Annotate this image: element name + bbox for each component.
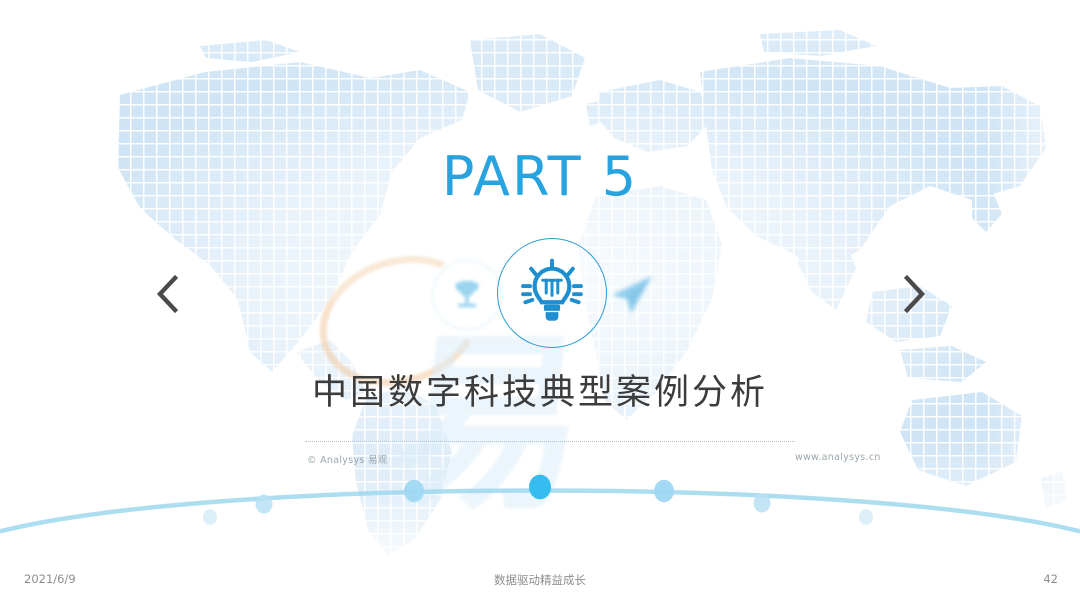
paper-plane-icon: [588, 252, 674, 338]
progress-dot[interactable]: [404, 480, 424, 502]
progress-dot[interactable]: [203, 509, 217, 525]
footer-page-number: 42: [1043, 572, 1058, 586]
chevron-left-icon: [153, 272, 183, 316]
trophy-icon-ring: [432, 260, 502, 330]
progress-dot[interactable]: [654, 480, 674, 502]
next-slide-button[interactable]: [892, 272, 936, 320]
divider-dotted: [305, 441, 795, 442]
prev-slide-button[interactable]: [146, 272, 190, 320]
chevron-right-icon: [899, 272, 929, 316]
brand-watermark: 易: [385, 330, 595, 520]
progress-dot[interactable]: [859, 509, 873, 525]
copyright-text: © Analysys 易观: [307, 452, 388, 466]
progress-dot[interactable]: [754, 493, 771, 512]
slide-headline: 中国数字科技典型案例分析: [0, 372, 1080, 414]
progress-arc: [0, 462, 1080, 542]
footer-tagline: 数据驱动精益成长: [0, 572, 1080, 588]
slide-canvas: 易 PART 5: [0, 0, 1080, 608]
progress-dot[interactable]: [529, 475, 551, 500]
slide-footer: 2021/6/9 数据驱动精益成长 42: [0, 560, 1080, 608]
progress-dot[interactable]: [256, 494, 273, 513]
part-label: PART 5: [0, 150, 1080, 204]
